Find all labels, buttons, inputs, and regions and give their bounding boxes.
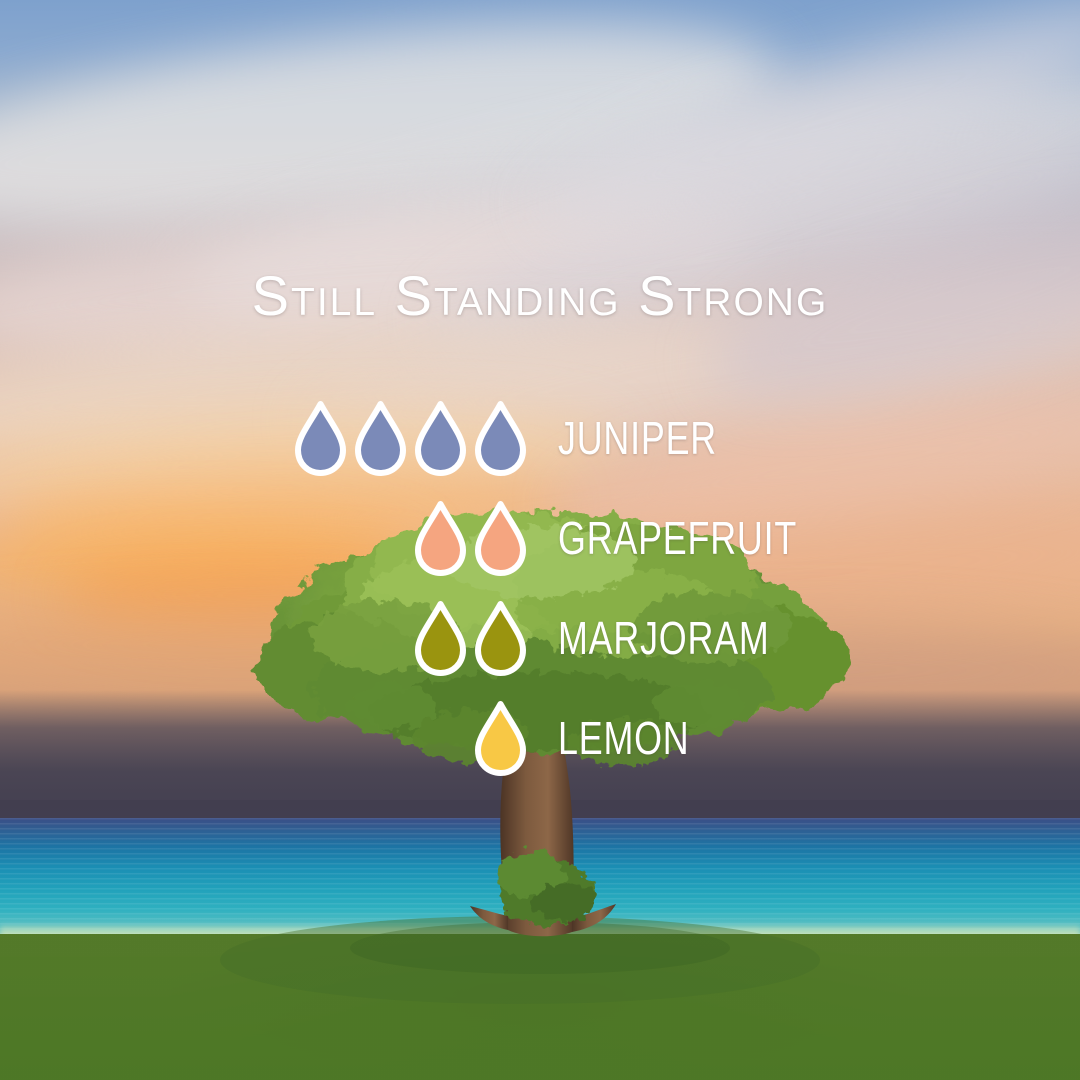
blend-row-grapefruit: GRAPEFRUIT — [0, 488, 1080, 588]
oil-drop-icon — [473, 599, 528, 677]
blend-recipe-list: JUNIPER GRAPEFRUIT — [0, 388, 1080, 788]
drop-count-marjoram — [0, 599, 528, 677]
blend-row-lemon: LEMON — [0, 688, 1080, 788]
oil-drop-icon — [473, 499, 528, 577]
oil-name-label: MARJORAM — [558, 615, 770, 661]
drop-count-grapefruit — [0, 499, 528, 577]
watermark-banner[interactable]: DIFFUSERBLENDS.COM — [794, 1043, 1080, 1080]
oil-drop-icon — [293, 399, 348, 477]
oil-drop-icon — [353, 399, 408, 477]
drop-count-lemon — [0, 699, 528, 777]
blend-row-juniper: JUNIPER — [0, 388, 1080, 488]
page-title: Still Standing Strong — [0, 268, 1080, 324]
drop-count-juniper — [0, 399, 528, 477]
blend-row-marjoram: MARJORAM — [0, 588, 1080, 688]
oil-drop-icon — [413, 399, 468, 477]
poster-content: Still Standing Strong — [0, 0, 1080, 1080]
oil-name-label: GRAPEFRUIT — [558, 515, 797, 561]
oil-name-label: LEMON — [558, 715, 690, 761]
oil-drop-icon — [413, 499, 468, 577]
oil-drop-icon — [473, 399, 528, 477]
oil-name-label: JUNIPER — [558, 415, 717, 461]
diffuser-blend-poster: Still Standing Strong — [0, 0, 1080, 1080]
oil-drop-icon — [413, 599, 468, 677]
oil-drop-icon — [473, 699, 528, 777]
